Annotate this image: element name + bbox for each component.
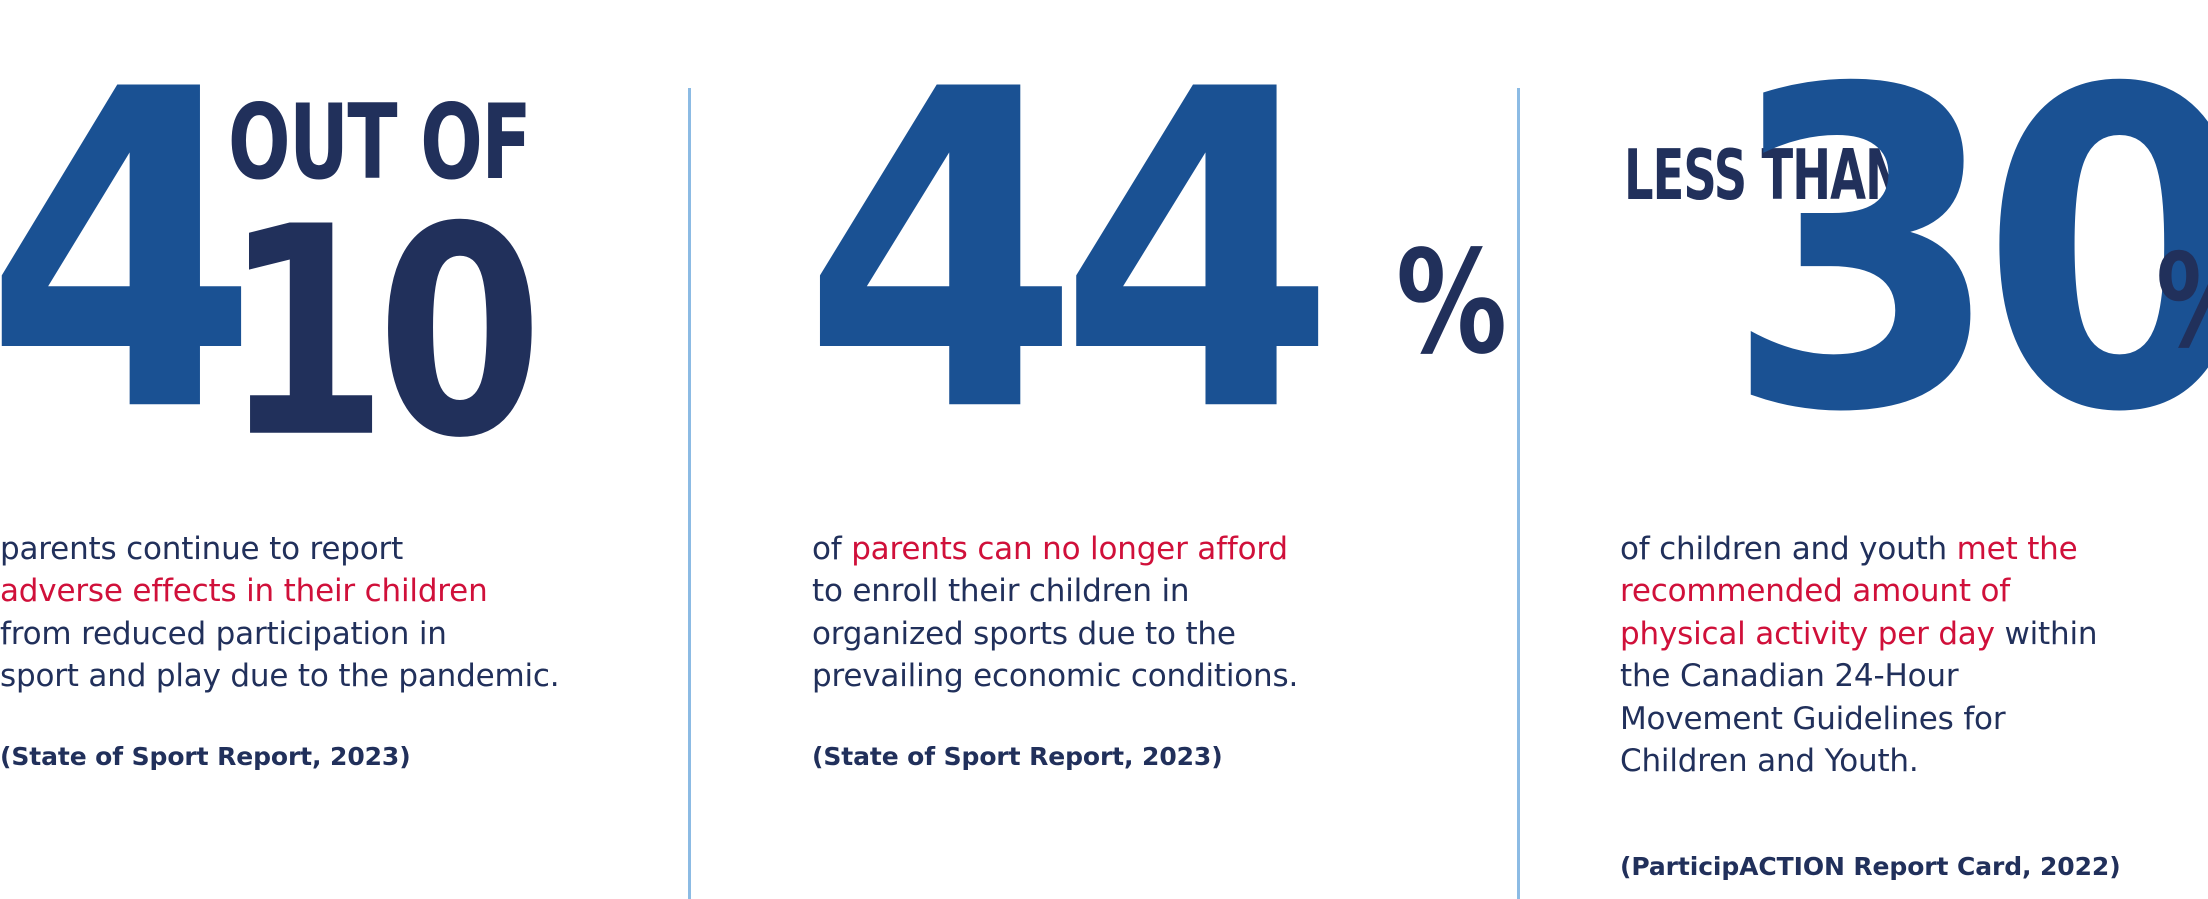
stat-body-3: of children and youth met the recommende… [1620, 528, 2180, 783]
body-segment-highlight: parents can no longer afford [851, 531, 1288, 567]
stat-number-2: 44 [802, 34, 1315, 473]
citation-1: (State of Sport Report, 2023) [0, 742, 411, 771]
stat-headline-3: LESS THAN 30 % [1620, 0, 2208, 440]
column-divider-2 [1517, 88, 1520, 899]
stat-percent-symbol-2: % [1396, 232, 1503, 375]
body-segment: of children and youth [1620, 531, 1957, 567]
stat-number-3: 30 [1724, 34, 2208, 473]
body-segment: from reduced participation in sport and … [0, 616, 559, 694]
body-segment: of [812, 531, 851, 567]
body-segment: parents continue to report [0, 531, 403, 567]
body-segment: to enroll their children in organized sp… [812, 573, 1298, 694]
citation-2: (State of Sport Report, 2023) [812, 742, 1223, 771]
stat-column-3: LESS THAN 30 % of children and youth met… [1548, 0, 2208, 899]
body-segment-highlight: adverse effects in their children [0, 573, 488, 609]
stat-percent-symbol-3: % [2156, 238, 2208, 368]
stat-body-1: parents continue to report adverse effec… [0, 528, 640, 698]
stat-number-1: 4 [0, 34, 238, 473]
stat-headline-1: 4 OUT OF 10 [0, 0, 672, 440]
stat-headline-2: 44 % [812, 0, 1500, 440]
stat-column-2: 44 % of parents can no longer afford to … [700, 0, 1500, 899]
statistics-infographic: 4 OUT OF 10 parents continue to report a… [0, 0, 2208, 899]
citation-3: (ParticipACTION Report Card, 2022) [1620, 852, 2121, 881]
stat-body-2: of parents can no longer afford to enrol… [812, 528, 1472, 698]
stat-column-1: 4 OUT OF 10 parents continue to report a… [0, 0, 672, 899]
stat-denominator-1: 10 [222, 190, 531, 478]
column-divider-1 [688, 88, 691, 899]
